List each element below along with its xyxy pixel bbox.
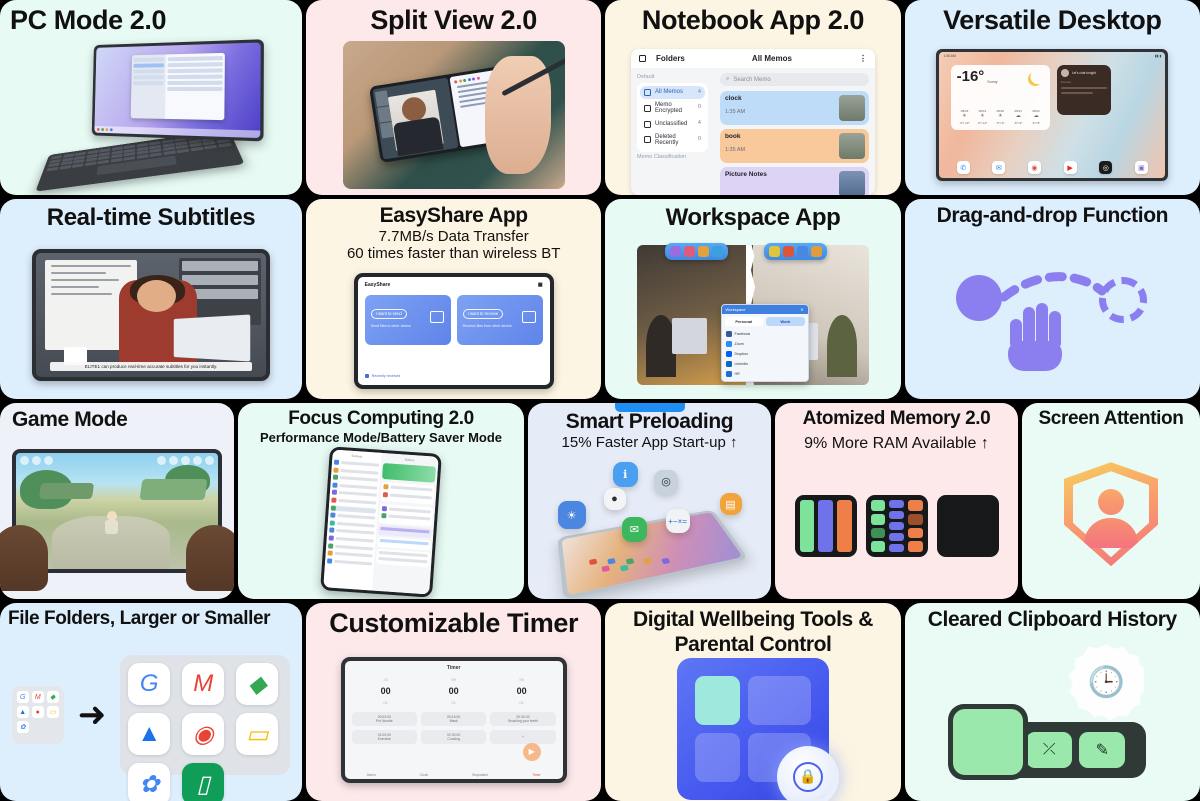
- memory-sub: 9% More RAM Available ↑: [804, 435, 989, 454]
- folders-sidebar: Default All Memos4 Memo Encrypted0 Uncla…: [631, 68, 714, 195]
- maps-icon: ◆: [47, 691, 59, 703]
- folder-item[interactable]: Deleted Recently0: [640, 131, 705, 150]
- youtube-music-icon: ●: [32, 706, 44, 718]
- card-focus-computing[interactable]: Focus Computing 2.0 Performance Mode/Bat…: [238, 403, 524, 599]
- card-atomized-memory[interactable]: Atomized Memory 2.0 9% More RAM Availabl…: [775, 403, 1018, 599]
- card-title: Atomized Memory 2.0: [803, 409, 991, 430]
- card-cleared-clipboard[interactable]: Cleared Clipboard History 🕒 ⤫ ✎: [905, 603, 1200, 801]
- drive-icon[interactable]: ▲: [128, 713, 170, 755]
- compass-icon: ◎: [654, 470, 678, 494]
- folder-item[interactable]: All Memos4: [640, 86, 705, 99]
- memo-card[interactable]: clock1:35 AM: [720, 91, 869, 125]
- search-memo-input[interactable]: ⌕ Search Memo: [720, 73, 869, 86]
- feature-grid: PC Mode 2.0: [0, 0, 1200, 801]
- workspace-app-row[interactable]: Facebook: [722, 329, 808, 339]
- shuffle-icon[interactable]: ⤫: [1026, 732, 1072, 768]
- workspace-app-row[interactable]: HR: [722, 369, 808, 379]
- memory-panel: [866, 495, 928, 557]
- drag-drop-illustration: [905, 228, 1200, 399]
- card-title-line2: Parental Control: [675, 634, 832, 657]
- folders-header: Folders: [656, 54, 685, 63]
- card-pc-mode[interactable]: PC Mode 2.0: [0, 0, 302, 195]
- subtitles-illustration: ELITE1 can produce real-time accurate su…: [0, 231, 302, 399]
- easyshare-sub-1: 7.7MB/s Data Transfer: [379, 228, 529, 246]
- youtube-icon[interactable]: ▶: [1064, 161, 1077, 174]
- timer-preset[interactable]: 02:00:00Cooking: [421, 730, 486, 744]
- tab-stopwatch[interactable]: Stopwatch: [472, 773, 488, 777]
- lock-timer-icon: 🔒: [777, 746, 839, 801]
- hours-dial[interactable]: 230001: [381, 676, 391, 707]
- edit-icon[interactable]: ✎: [1079, 732, 1125, 768]
- app-bubble-left: [665, 243, 728, 260]
- card-game-mode[interactable]: Game Mode: [0, 403, 234, 599]
- timer-preset[interactable]: 00:03:00Pot Noodle: [352, 712, 417, 726]
- screen-attention-illustration: [1022, 430, 1200, 599]
- youtube-music-icon[interactable]: ◉: [182, 713, 224, 755]
- focus-sub: Performance Mode/Battery Saver Mode: [260, 430, 502, 445]
- card-realtime-subtitles[interactable]: Real-time Subtitles ELITE1 can produce r…: [0, 199, 302, 399]
- all-memos-header: All Memos: [752, 54, 792, 63]
- memory-panel: [795, 495, 857, 557]
- card-digital-wellbeing[interactable]: Digital Wellbeing Tools & Parental Contr…: [605, 603, 900, 801]
- messages-icon: ✉: [622, 517, 647, 542]
- large-folder[interactable]: G M ◆ ▲ ◉ ▭ ✿ ▯: [120, 655, 290, 775]
- calculator-icon: +−×=: [666, 509, 690, 533]
- cursor-tab-artifact: [615, 403, 685, 412]
- feature-row-1: PC Mode 2.0: [0, 0, 1200, 195]
- card-drag-and-drop[interactable]: Drag-and-drop Function: [905, 199, 1200, 399]
- classroom-icon: ▭: [47, 706, 59, 718]
- weather-widget[interactable]: -16° Sunny 08/18☀-6°/-10° 08/19☀-6°/-12°…: [951, 65, 1050, 131]
- card-versatile-desktop[interactable]: Versatile Desktop 1:35 AM▮▮ ▮ -16° Sunny: [905, 0, 1200, 195]
- camera-icon: ●: [604, 488, 626, 510]
- timer-preset[interactable]: 01:00:00Exercise: [352, 730, 417, 744]
- memo-thumbnail: [839, 171, 865, 195]
- clipboard-illustration: 🕒 ⤫ ✎: [905, 632, 1200, 801]
- easyshare-illustration: EasyShare ▦ I want to send Send files to…: [306, 263, 601, 399]
- receive-card[interactable]: I want to receive Receive files from oth…: [457, 295, 543, 345]
- find-device-icon[interactable]: ▯: [182, 763, 224, 801]
- folder-icon: [644, 121, 651, 128]
- notebook-illustration: Folders All Memos ⋮ Default All Memos4 M…: [605, 35, 900, 195]
- weather-cond: Sunny: [987, 80, 997, 84]
- phone-icon[interactable]: ✆: [957, 161, 970, 174]
- card-title-line1: Digital Wellbeing Tools &: [633, 609, 873, 632]
- classroom-icon[interactable]: ▭: [236, 713, 278, 755]
- folder-icon: [644, 89, 651, 96]
- card-title: Real-time Subtitles: [47, 205, 255, 231]
- easyshare-app-name: EasyShare: [365, 282, 391, 288]
- menu-icon[interactable]: [639, 55, 646, 62]
- card-title: Game Mode: [12, 409, 127, 432]
- workspace-app-row[interactable]: Instagram: [722, 379, 808, 382]
- messages-icon[interactable]: ✉: [992, 161, 1005, 174]
- photos-icon[interactable]: ✿: [128, 763, 170, 801]
- tab-personal[interactable]: Personal: [725, 317, 764, 326]
- card-title: Customizable Timer: [329, 609, 578, 638]
- file-folders-illustration: G M ◆ ▲ ● ▭ ✿ ➜ G M ◆ ▲ ◉: [0, 630, 302, 801]
- memo-list: ⌕ Search Memo clock1:35 AM book1:35 AM: [714, 68, 875, 195]
- folder-item[interactable]: Unclassified4: [640, 118, 705, 131]
- gmail-icon: M: [32, 691, 44, 703]
- card-smart-preloading[interactable]: Smart Preloading 15% Faster App Start-up…: [528, 403, 771, 599]
- card-title: Cleared Clipboard History: [928, 609, 1177, 632]
- card-notebook-app[interactable]: Notebook App 2.0 Folders All Memos ⋮ Def…: [605, 0, 900, 195]
- small-folder[interactable]: G M ◆ ▲ ● ▭ ✿: [12, 686, 64, 744]
- start-timer-button[interactable]: ▶: [523, 743, 541, 761]
- timer-preset[interactable]: 00:30:00Brushing your teeth: [490, 712, 555, 726]
- versatile-desktop-illustration: 1:35 AM▮▮ ▮ -16° Sunny 08/18☀-6°/-10° 08…: [905, 35, 1200, 195]
- moon-icon: [1028, 72, 1042, 86]
- google-icon[interactable]: G: [128, 663, 170, 705]
- card-easyshare[interactable]: EasyShare App 7.7MB/s Data Transfer 60 t…: [306, 199, 601, 399]
- more-options-icon[interactable]: ⋮: [859, 54, 867, 63]
- photos-icon: ✿: [17, 721, 29, 733]
- pc-mode-illustration: [0, 35, 302, 195]
- memory-illustration: [775, 453, 1018, 599]
- timer-preset[interactable]: 00:15:00Mask: [421, 712, 486, 726]
- preloading-illustration: ℹ ◎ ● ☀ ✉ +−×= ▤: [528, 451, 771, 599]
- lock-icon: [644, 105, 651, 112]
- card-title: Screen Attention: [1039, 409, 1184, 430]
- timer-illustration: Timer 230001 590001 590001 00:03:00Pot N…: [306, 638, 601, 801]
- arrow-icon: ➜: [78, 705, 107, 725]
- tablet-screen: [92, 39, 264, 141]
- card-split-view[interactable]: Split View 2.0: [306, 0, 601, 195]
- workspace-app-row[interactable]: Dropbox: [722, 349, 808, 359]
- workspace-app-row[interactable]: Zoom: [722, 339, 808, 349]
- recently-received[interactable]: Recently received: [365, 374, 401, 378]
- workspace-illustration: Workspace✕ Personal Work Facebook Zoom D…: [605, 231, 900, 399]
- shield-person-icon: [1064, 462, 1158, 566]
- timer-screen-title: Timer: [352, 665, 556, 671]
- feature-row-4: File Folders, Larger or Smaller G M ◆ ▲ …: [0, 603, 1200, 801]
- card-title: Workspace App: [666, 205, 841, 231]
- subtitle-caption: ELITE1 can produce real-time accurate su…: [50, 362, 252, 371]
- feature-row-3: Game Mode: [0, 403, 1200, 599]
- clock-icon: 🕒: [1068, 644, 1144, 720]
- trash-icon: [644, 136, 651, 143]
- card-title: PC Mode 2.0: [10, 6, 166, 35]
- tab-alarm[interactable]: Alarm: [367, 773, 376, 777]
- focus-illustration: Settings: [238, 445, 524, 599]
- card-title: EasyShare App: [380, 205, 528, 228]
- memory-panel: [937, 495, 999, 557]
- gmail-icon[interactable]: M: [182, 663, 224, 705]
- card-customizable-timer[interactable]: Customizable Timer Timer 230001 590001 5…: [306, 603, 601, 801]
- folder-item[interactable]: Memo Encrypted0: [640, 99, 705, 118]
- card-title: Notebook App 2.0: [642, 6, 864, 35]
- card-title: Split View 2.0: [370, 6, 536, 35]
- receive-folder-icon: [522, 311, 536, 323]
- camera-icon[interactable]: ◎: [1099, 161, 1112, 174]
- card-title: Focus Computing 2.0: [288, 409, 474, 430]
- battery-bar: [382, 463, 436, 483]
- close-icon[interactable]: ✕: [800, 307, 803, 312]
- card-screen-attention[interactable]: Screen Attention: [1022, 403, 1200, 599]
- workspace-popup[interactable]: Workspace✕ Personal Work Facebook Zoom D…: [721, 304, 809, 382]
- memo-thumbnail: [839, 95, 865, 121]
- preloading-sub: 15% Faster App Start-up ↑: [562, 434, 738, 452]
- add-preset-button[interactable]: +: [490, 730, 555, 744]
- notes-icon: ▤: [720, 493, 742, 515]
- tab-timer[interactable]: Timer: [532, 773, 541, 777]
- weather-icon: ☀: [558, 501, 586, 529]
- tab-work[interactable]: Work: [766, 317, 805, 326]
- card-title: Drag-and-drop Function: [937, 205, 1169, 228]
- drive-icon: ▲: [17, 706, 29, 718]
- dock: ✆ ✉ ◉ ▶ ◎ ▣: [939, 161, 1165, 174]
- tab-clock[interactable]: Clock: [420, 773, 428, 777]
- game-mode-illustration: [0, 432, 234, 599]
- weather-temp: -16°: [957, 69, 985, 84]
- memo-card[interactable]: Picture Notes: [720, 167, 869, 195]
- workspace-app-row[interactable]: LinkedIn: [722, 359, 808, 369]
- clipboard-item[interactable]: [948, 704, 1028, 780]
- seconds-dial[interactable]: 590001: [517, 676, 527, 707]
- card-workspace-app[interactable]: Workspace App: [605, 199, 900, 399]
- search-icon: ⌕: [726, 76, 729, 83]
- send-card[interactable]: I want to send Send files to other devic…: [365, 295, 451, 345]
- maps-icon[interactable]: ◆: [236, 663, 278, 705]
- hand-cursor-icon: [1008, 305, 1070, 371]
- chrome-icon[interactable]: ◉: [1028, 161, 1041, 174]
- easyshare-sub-2: 60 times faster than wireless BT: [347, 245, 560, 263]
- memo-card[interactable]: book1:35 AM: [720, 129, 869, 163]
- feature-row-2: Real-time Subtitles ELITE1 can produce r…: [0, 199, 1200, 399]
- section-label-default: Default: [637, 74, 708, 80]
- wellbeing-illustration: 🔒: [605, 656, 900, 801]
- chat-widget[interactable]: Let's chat tonight Friends: [1057, 65, 1111, 115]
- card-file-folders[interactable]: File Folders, Larger or Smaller G M ◆ ▲ …: [0, 603, 302, 801]
- card-title: Versatile Desktop: [943, 6, 1161, 35]
- gallery-icon[interactable]: ▣: [1135, 161, 1148, 174]
- section-label-classification: Memo Classification: [637, 154, 708, 160]
- qr-icon[interactable]: ▦: [538, 282, 543, 288]
- google-icon: G: [17, 691, 29, 703]
- memo-thumbnail: [839, 133, 865, 159]
- store-icon: ℹ: [613, 462, 638, 487]
- card-title: File Folders, Larger or Smaller: [8, 609, 270, 630]
- split-view-illustration: [306, 35, 601, 195]
- app-bubble-right: [764, 243, 827, 260]
- send-folder-icon: [430, 311, 444, 323]
- card-title: Smart Preloading: [566, 411, 733, 434]
- minutes-dial[interactable]: 590001: [449, 676, 459, 707]
